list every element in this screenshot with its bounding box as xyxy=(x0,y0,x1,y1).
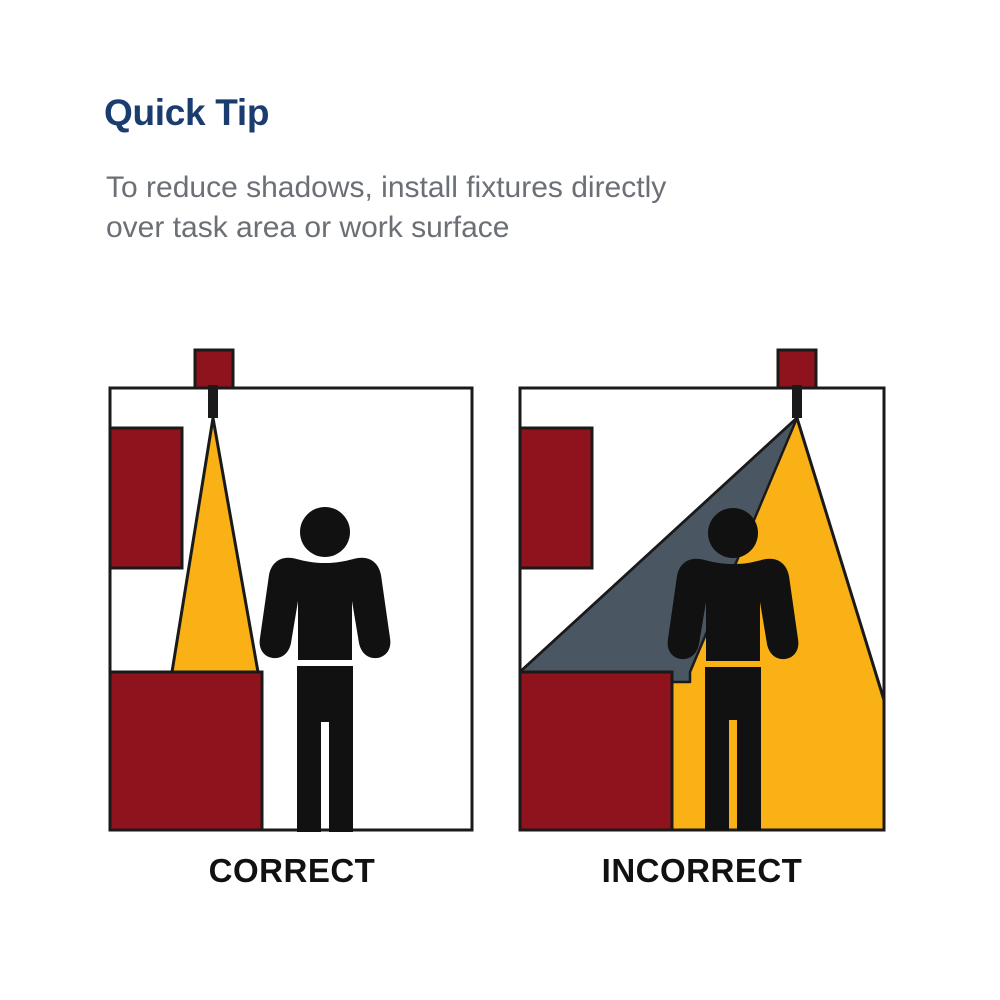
quick-tip-card: Quick Tip To reduce shadows, install fix… xyxy=(0,0,1000,1000)
tip-description: To reduce shadows, install fixtures dire… xyxy=(106,168,896,248)
panel-captions: CORRECT INCORRECT xyxy=(0,852,1000,912)
panel-correct xyxy=(110,350,472,832)
caption-correct: CORRECT xyxy=(110,852,474,890)
workbench-incorrect xyxy=(520,672,672,830)
light-fixture-housing-correct xyxy=(195,350,233,388)
panel-incorrect xyxy=(520,350,884,830)
light-fixture-stem-incorrect xyxy=(792,385,802,418)
comparison-diagram xyxy=(0,330,1000,910)
lighting-comparison-illustration xyxy=(0,330,1000,910)
wall-cabinet-correct xyxy=(110,428,182,568)
worker-head-correct xyxy=(300,507,350,557)
page-title: Quick Tip xyxy=(104,93,269,134)
light-fixture-housing-incorrect xyxy=(778,350,816,388)
workbench-correct xyxy=(110,672,262,830)
light-fixture-stem-correct xyxy=(208,385,218,418)
worker-torso-arms-correct xyxy=(260,558,391,660)
caption-incorrect: INCORRECT xyxy=(520,852,884,890)
wall-cabinet-incorrect xyxy=(520,428,592,568)
worker-torso-arms-incorrect xyxy=(668,559,799,661)
worker-head-incorrect xyxy=(708,508,758,558)
